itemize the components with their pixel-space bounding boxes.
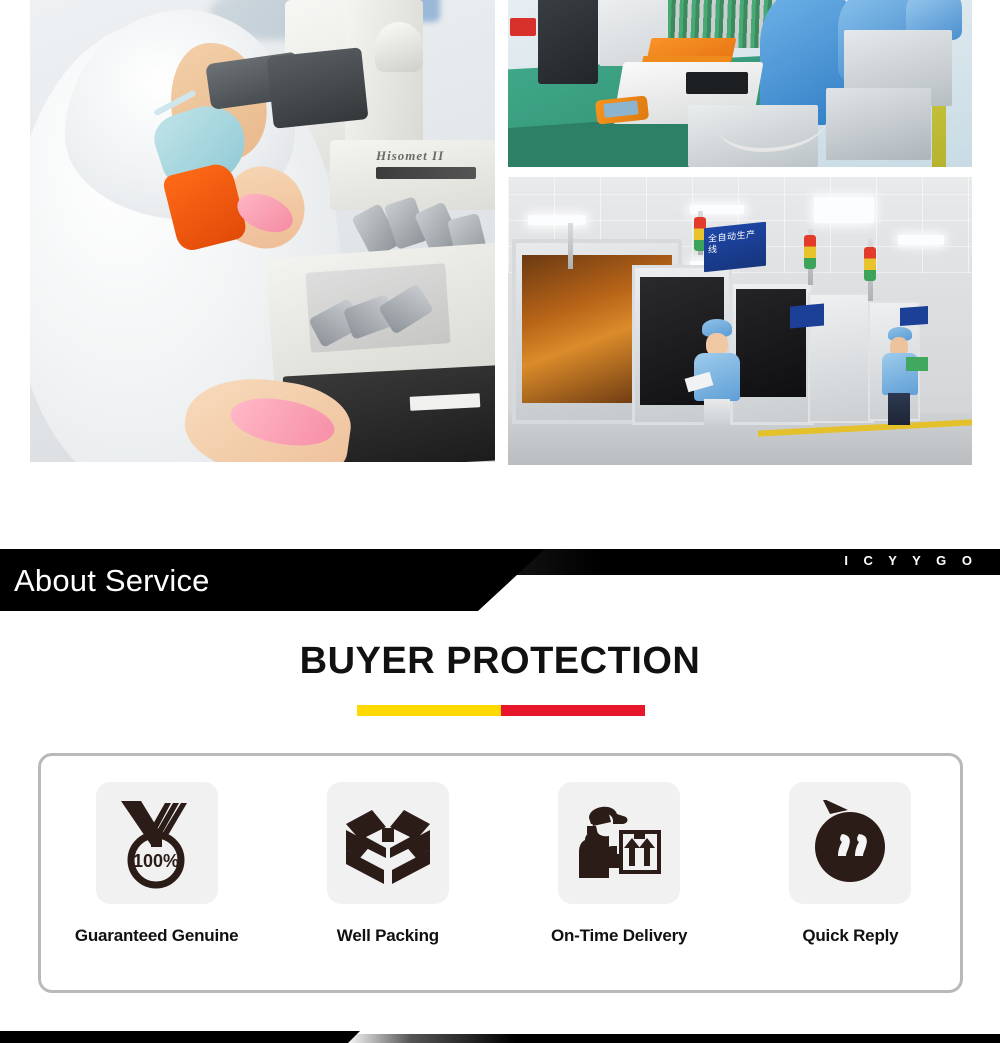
feature-list: 100% Guaranteed Genuine xyxy=(41,782,966,946)
medal-badge-text: 100% xyxy=(133,851,179,871)
title-underline-rule xyxy=(357,705,645,716)
feature-label: Well Packing xyxy=(337,926,439,946)
section-title: BUYER PROTECTION xyxy=(0,640,1000,683)
feature-on-time-delivery: On-Time Delivery xyxy=(504,782,735,946)
photo-microscope-inspection: Hisomet II xyxy=(30,0,495,462)
about-service-banner: About Service I C Y Y G O xyxy=(0,549,1000,611)
rule-segment-red xyxy=(501,705,645,716)
buyer-protection-card: 100% Guaranteed Genuine xyxy=(38,753,963,993)
bottom-banner xyxy=(0,1031,1000,1043)
medal-100-percent-icon: 100% xyxy=(96,782,218,904)
speech-bubble-quote-icon xyxy=(789,782,911,904)
feature-label: Quick Reply xyxy=(802,926,898,946)
open-box-icon xyxy=(327,782,449,904)
rule-segment-yellow xyxy=(357,705,501,716)
microscope-brand-text: Hisomet II xyxy=(376,148,486,164)
about-service-label: About Service xyxy=(14,563,210,599)
photo-automated-production-line: 全自动生产线 xyxy=(508,177,972,465)
production-line-sign-text: 全自动生产线 xyxy=(708,228,762,266)
feature-guaranteed-genuine: 100% Guaranteed Genuine xyxy=(41,782,272,946)
feature-label: Guaranteed Genuine xyxy=(75,926,239,946)
photo-assembly-workbench xyxy=(508,0,972,167)
feature-quick-reply: Quick Reply xyxy=(735,782,966,946)
feature-label: On-Time Delivery xyxy=(551,926,687,946)
photo-gallery: Hisomet II xyxy=(0,0,1000,470)
delivery-person-package-icon xyxy=(558,782,680,904)
product-detail-page: Hisomet II xyxy=(0,0,1000,1043)
brand-logo-text: I C Y Y G O xyxy=(844,553,978,568)
bottom-banner-strip xyxy=(345,1034,1000,1043)
feature-well-packing: Well Packing xyxy=(272,782,503,946)
bottom-banner-tag xyxy=(0,1031,360,1043)
